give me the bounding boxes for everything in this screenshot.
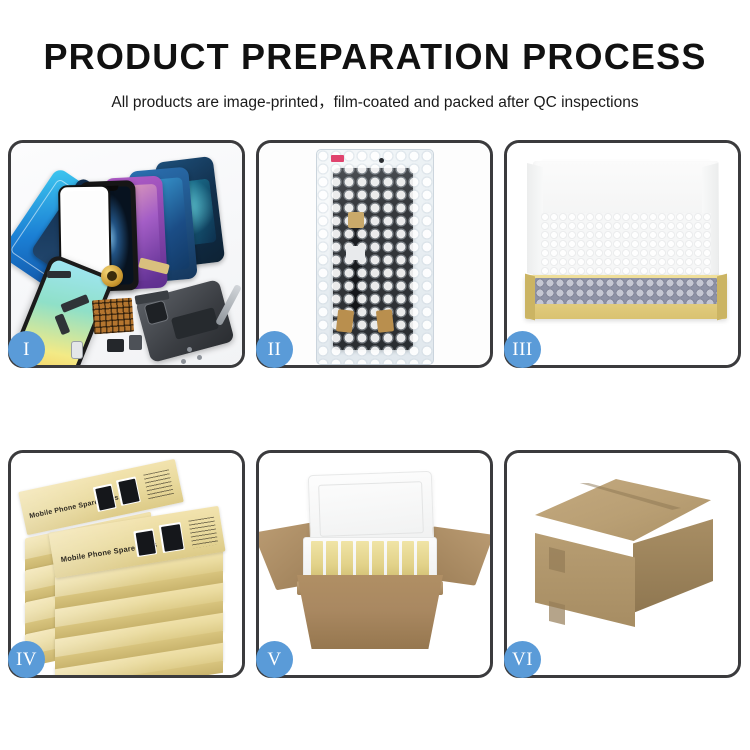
step-badge-3: III <box>504 331 541 368</box>
page-title: PRODUCT PREPARATION PROCESS <box>0 36 750 78</box>
step-1-image <box>11 143 242 365</box>
connector-icon <box>346 246 365 260</box>
speaker-part-icon <box>101 265 123 287</box>
bubble-wrap-bag <box>316 149 434 365</box>
carton-tape-icon <box>549 601 565 625</box>
bubble-fill-icon <box>535 278 717 304</box>
foam-sheet-icon <box>541 213 711 279</box>
camera-hole-icon <box>379 158 384 163</box>
phones-and-parts-collage <box>11 143 242 365</box>
step-6-image <box>507 453 738 675</box>
box-spec-lines <box>143 469 174 500</box>
earpiece-part-icon <box>47 271 71 278</box>
tape-icon <box>335 309 353 333</box>
camera-part-icon <box>71 341 83 359</box>
carton-tape-icon <box>549 547 565 573</box>
pink-qc-label-icon <box>331 155 344 162</box>
stacked-boxes-scene: Mobile Phone Spare Parts Mobile Phone Sp… <box>11 453 242 675</box>
step-2-image <box>259 143 490 365</box>
tray-edge-right <box>717 274 727 321</box>
screw-icon <box>197 355 202 360</box>
process-step-panel-2: II <box>256 140 493 368</box>
box-screen-thumb <box>159 522 185 553</box>
step-badge-4: IV <box>8 641 45 678</box>
screw-icon <box>181 359 186 364</box>
bubble-wrap-scene <box>259 143 490 365</box>
step-badge-1: I <box>8 331 45 368</box>
box-screen-thumb <box>133 528 157 557</box>
chip-part-icon <box>107 339 124 352</box>
tray-edge-left <box>525 274 535 321</box>
step-badge-5: V <box>256 641 293 678</box>
page-subtitle: All products are image-printed，film-coat… <box>0 90 750 112</box>
step-3-image <box>507 143 738 365</box>
page-header: PRODUCT PREPARATION PROCESS All products… <box>0 0 750 112</box>
process-step-panel-3: III <box>504 140 741 368</box>
step-4-image: Mobile Phone Spare Parts Mobile Phone Sp… <box>11 453 242 675</box>
copper-mesh-part-icon <box>92 298 134 335</box>
box-spec-lines <box>188 517 218 549</box>
product-preparation-page: PRODUCT PREPARATION PROCESS All products… <box>0 0 750 750</box>
open-yellow-box-scene <box>507 143 738 365</box>
process-step-panel-4: Mobile Phone Spare Parts Mobile Phone Sp… <box>8 450 245 678</box>
step-badge-6: VI <box>504 641 541 678</box>
box-stack: Mobile Phone Spare Parts Mobile Phone Sp… <box>17 467 242 673</box>
styrofoam-lid-icon <box>308 471 434 547</box>
tape-icon <box>375 309 393 333</box>
step-badge-2: II <box>256 331 293 368</box>
carton-body-icon <box>297 575 443 649</box>
process-step-panel-5: V <box>256 450 493 678</box>
process-step-panel-1: I <box>8 140 245 368</box>
step-5-image <box>259 453 490 675</box>
carton-packing-scene <box>259 453 490 675</box>
module-part-icon <box>129 335 142 350</box>
bubble-texture <box>317 150 433 364</box>
yellow-box-tray-icon <box>525 275 727 319</box>
sealed-carton-scene <box>507 453 738 675</box>
tape-icon <box>348 212 364 228</box>
process-step-grid: I II <box>8 140 742 678</box>
screw-icon <box>187 347 192 352</box>
process-step-panel-6: VI <box>504 450 741 678</box>
